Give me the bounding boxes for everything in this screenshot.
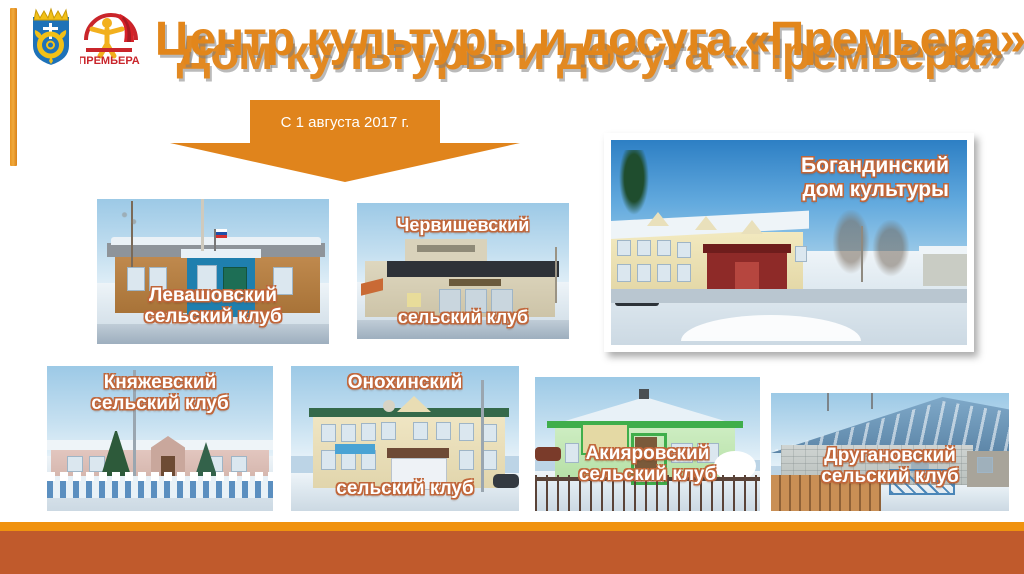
window (482, 424, 497, 442)
entrance-canopy (703, 244, 791, 253)
window (617, 264, 631, 282)
window (657, 240, 671, 256)
blue-gate (889, 469, 955, 495)
window (657, 264, 671, 282)
roof-edge-green (547, 421, 743, 428)
flag-pole (481, 380, 484, 492)
photo-card-levashovsky: Левашовский сельский клуб (97, 199, 329, 344)
window (459, 450, 474, 470)
bare-tree (869, 220, 913, 282)
window (977, 457, 993, 473)
photo-card-knyazhevsky: Княжевский сельский клуб (47, 366, 273, 511)
window (436, 422, 451, 440)
fence-rail (535, 477, 760, 481)
window (565, 443, 579, 463)
window (89, 456, 105, 472)
secondary-building-roof (919, 246, 974, 254)
wall-poster (407, 293, 421, 307)
secondary-building (923, 252, 973, 286)
svg-text:ПРЕМЬЕРА: ПРЕМЬЕРА (80, 55, 140, 67)
birch-tree (201, 199, 204, 251)
porch-canopy (181, 249, 261, 258)
window (273, 267, 293, 295)
entrance (391, 458, 447, 490)
photo-card-chervishevsky: Червишевский сельский клуб (357, 203, 569, 339)
window (459, 423, 474, 441)
window (795, 246, 807, 262)
flag-pole (214, 229, 216, 251)
window (361, 423, 376, 441)
window (381, 422, 396, 440)
window (671, 443, 693, 463)
presentation-slide: ПРЕМЬЕРА Дом культуры и досуга «Премьера… (0, 0, 1024, 574)
date-arrow-banner: С 1 августа 2017 г. (170, 100, 520, 182)
coat-of-arms-icon (28, 6, 74, 68)
window (482, 450, 497, 470)
photo-card-druganovsky: Другановский сельский клуб (771, 393, 1009, 511)
window (413, 422, 428, 440)
utility-pole (555, 247, 557, 303)
window (231, 456, 247, 472)
conifer-tree (617, 150, 651, 220)
satellite-dish-icon (383, 400, 395, 412)
window (677, 264, 691, 282)
footer-brown-band (0, 531, 1024, 574)
gable-sign (581, 423, 629, 455)
ground-shade (357, 320, 569, 339)
window (127, 267, 145, 291)
window (149, 267, 167, 291)
chimney (639, 389, 649, 399)
left-accent-bar (10, 8, 17, 166)
window (67, 456, 83, 472)
window (465, 289, 487, 313)
window (321, 450, 336, 470)
window (321, 424, 336, 442)
fence-snowcaps (47, 472, 273, 481)
utility-pole (871, 393, 873, 409)
door (223, 267, 247, 295)
arrow-head-icon (170, 143, 520, 182)
fence (771, 475, 881, 511)
page-title-line-1: Центр культуры и досуга «Премьера» (150, 12, 1024, 68)
window (617, 240, 631, 256)
parked-car (493, 474, 519, 488)
photo-card-onohinsky: Онохинский сельский клуб (291, 366, 519, 511)
bare-tree-branches (113, 201, 159, 247)
arrow-label: С 1 августа 2017 г. (250, 100, 440, 144)
window (677, 242, 691, 258)
ground-shade (97, 324, 329, 344)
window (637, 240, 651, 256)
entrance-canopy (387, 448, 449, 458)
flag-icon (215, 229, 227, 238)
photo-card-bogandinsky: Богандинский дом культуры (604, 133, 974, 352)
footer-orange-stripe (0, 522, 1024, 531)
parked-car (535, 447, 561, 461)
dark-canopy (387, 261, 559, 277)
utility-pole (861, 226, 863, 282)
antenna-icon (827, 393, 829, 411)
logo-row: ПРЕМЬЕРА (28, 6, 142, 68)
window (341, 424, 356, 442)
page-title: Дом культуры и досуга «Премьера» Центр к… (150, 12, 1024, 92)
entrance-sign (449, 279, 501, 286)
road (611, 289, 967, 303)
photo-card-akiyarovsky: Акияровский сельский клуб (535, 377, 760, 511)
window (197, 265, 217, 291)
flag-pole (133, 370, 136, 480)
window (491, 289, 513, 313)
window (637, 264, 651, 282)
bare-tree (829, 210, 873, 280)
premiera-logo-icon: ПРЕМЬЕРА (80, 6, 142, 68)
window (439, 289, 461, 313)
building-banner (335, 444, 375, 454)
parapet-sign (417, 245, 475, 252)
